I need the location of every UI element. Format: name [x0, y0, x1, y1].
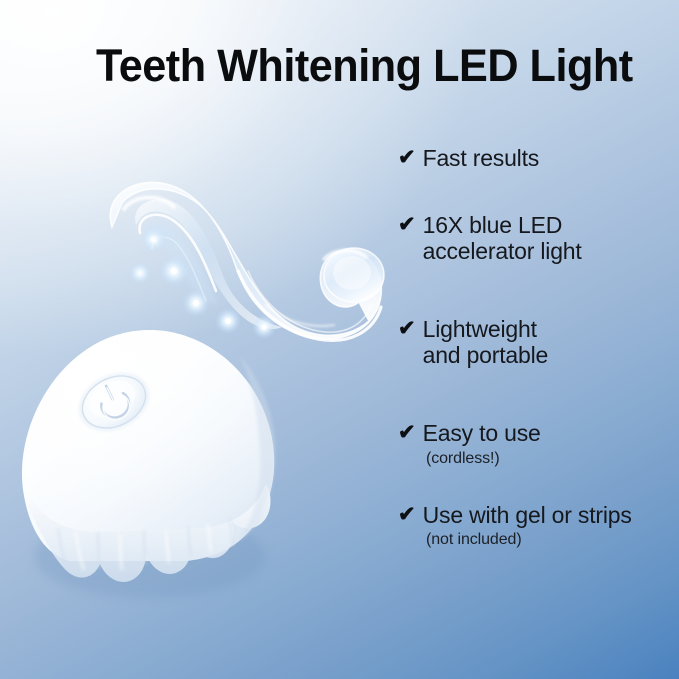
- check-icon: ✔: [398, 214, 416, 237]
- feature-label: Easy to use: [423, 421, 541, 447]
- list-item: ✔ Easy to use (cordless!): [398, 421, 676, 468]
- led-light-device: [10, 320, 300, 610]
- product-image-canvas: Teeth Whitening LED Light: [0, 0, 679, 679]
- feature-subtext: (not included): [426, 531, 676, 549]
- check-icon: ✔: [398, 504, 416, 527]
- feature-label: 16X blue LEDaccelerator light: [423, 213, 582, 265]
- check-icon: ✔: [398, 318, 416, 341]
- feature-list: ✔ Fast results ✔ 16X blue LEDaccelerator…: [398, 146, 676, 549]
- device-graphic: [10, 320, 300, 610]
- list-item: ✔ Use with gel or strips (not included): [398, 503, 676, 550]
- list-item: ✔ 16X blue LEDaccelerator light: [398, 213, 676, 265]
- tray-shell: [107, 180, 384, 340]
- check-icon: ✔: [398, 147, 416, 170]
- feature-label: Lightweightand portable: [423, 317, 548, 369]
- list-item: ✔ Fast results: [398, 146, 676, 172]
- page-title: Teeth Whitening LED Light: [96, 42, 576, 89]
- feature-label: Fast results: [423, 146, 539, 172]
- check-icon: ✔: [398, 422, 416, 445]
- feature-label: Use with gel or strips: [423, 503, 632, 529]
- feature-subtext: (cordless!): [426, 450, 676, 468]
- list-item: ✔ Lightweightand portable: [398, 317, 676, 369]
